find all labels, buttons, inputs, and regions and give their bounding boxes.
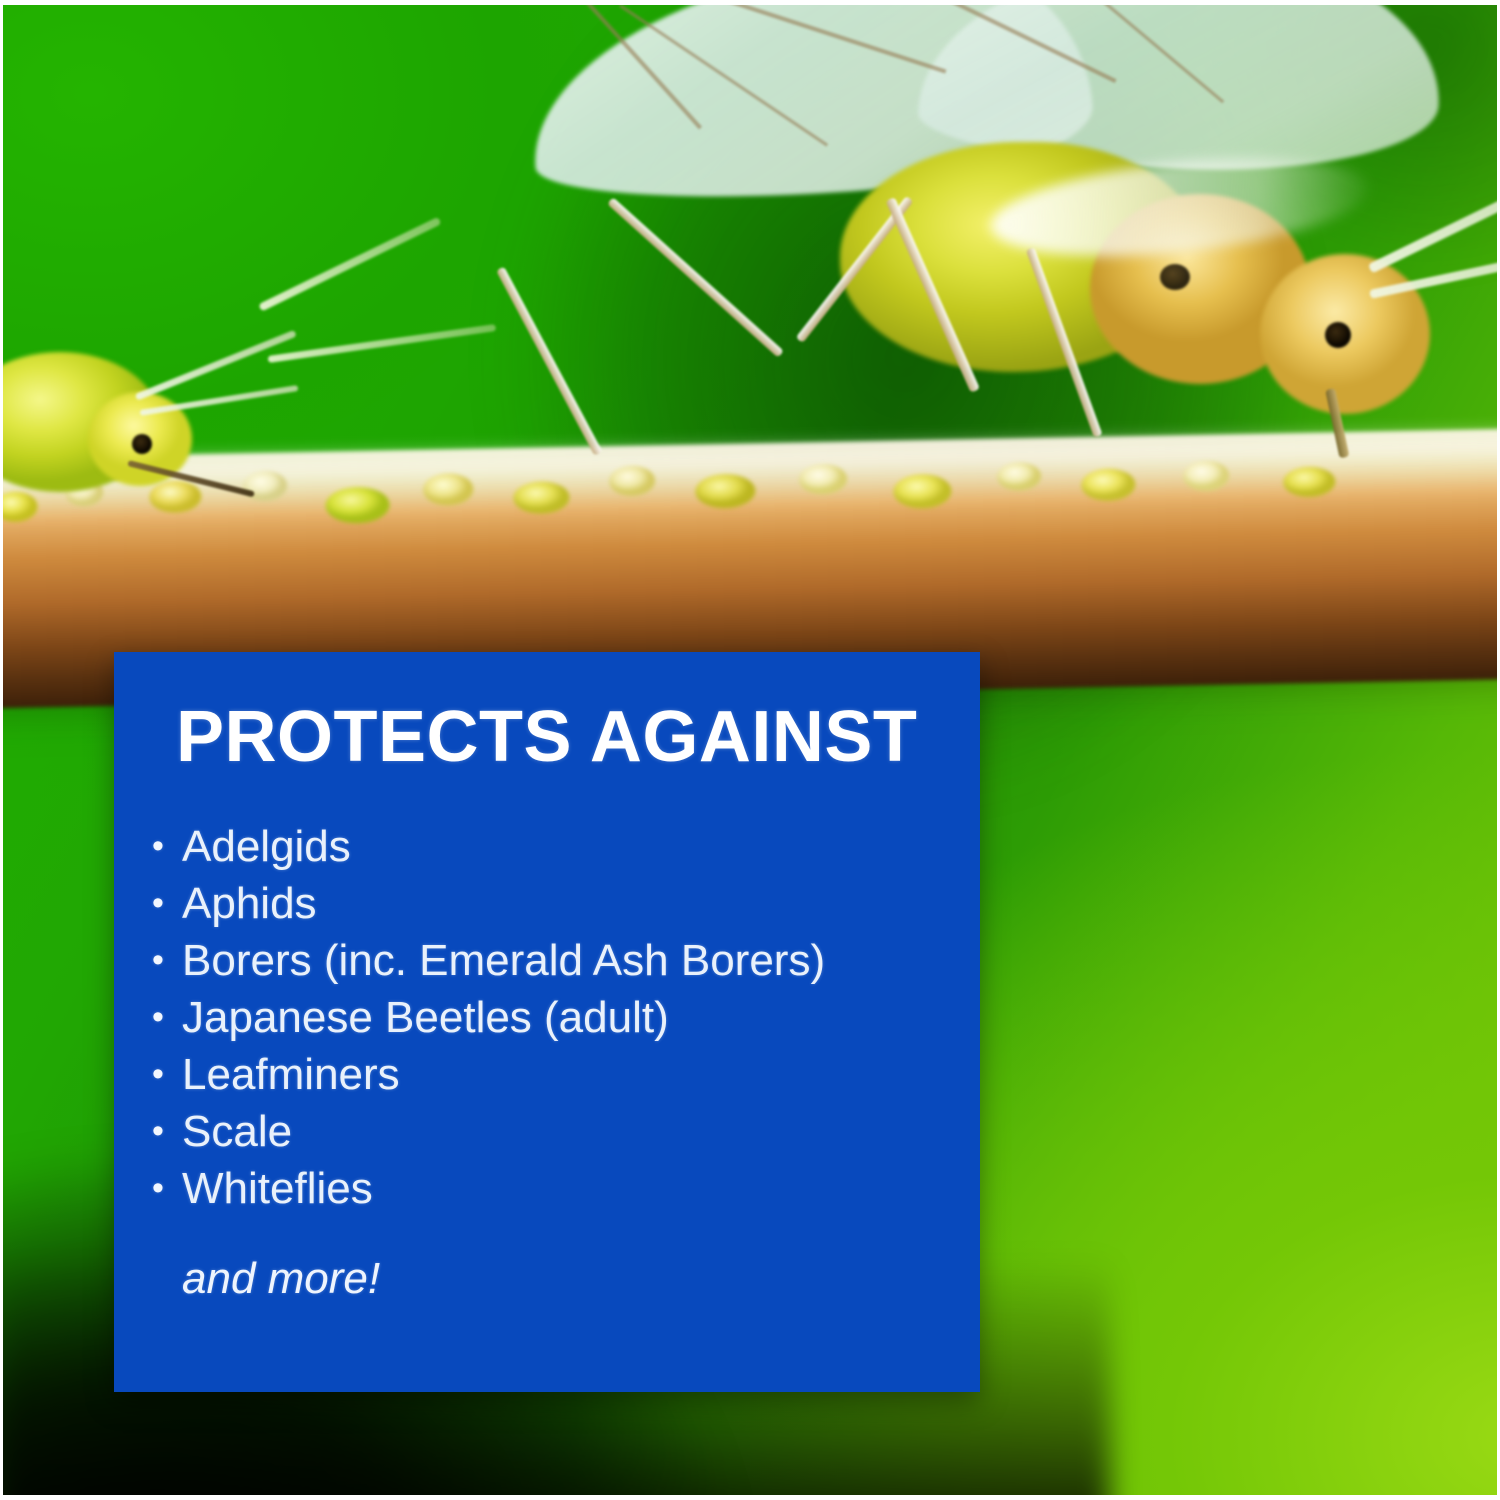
list-item: Scale	[152, 1103, 825, 1160]
aphid-eye	[1325, 322, 1351, 348]
aphid-nymph-left	[0, 334, 290, 514]
list-item: Aphids	[152, 875, 825, 932]
pest-list: Adelgids Aphids Borers (inc. Emerald Ash…	[152, 818, 825, 1217]
aphid-leg	[496, 266, 603, 456]
product-feature-image: PROTECTS AGAINST Adelgids Aphids Borers …	[0, 0, 1500, 1500]
frame-left	[0, 0, 3, 1500]
panel-title: PROTECTS AGAINST	[176, 696, 917, 778]
nymph-eye	[132, 434, 152, 454]
list-item: Whiteflies	[152, 1160, 825, 1217]
frame-top	[0, 0, 1500, 5]
protects-against-panel: PROTECTS AGAINST Adelgids Aphids Borers …	[114, 652, 980, 1392]
list-item: Borers (inc. Emerald Ash Borers)	[152, 932, 825, 989]
winged-aphid-adult	[470, 4, 1500, 524]
list-item: Japanese Beetles (adult)	[152, 989, 825, 1046]
frame-bottom	[0, 1495, 1500, 1500]
aphid-eye-secondary	[1160, 264, 1190, 290]
list-item: Leafminers	[152, 1046, 825, 1103]
list-item: Adelgids	[152, 818, 825, 875]
panel-footer-note: and more!	[182, 1254, 380, 1304]
aphid-leg	[607, 197, 784, 358]
